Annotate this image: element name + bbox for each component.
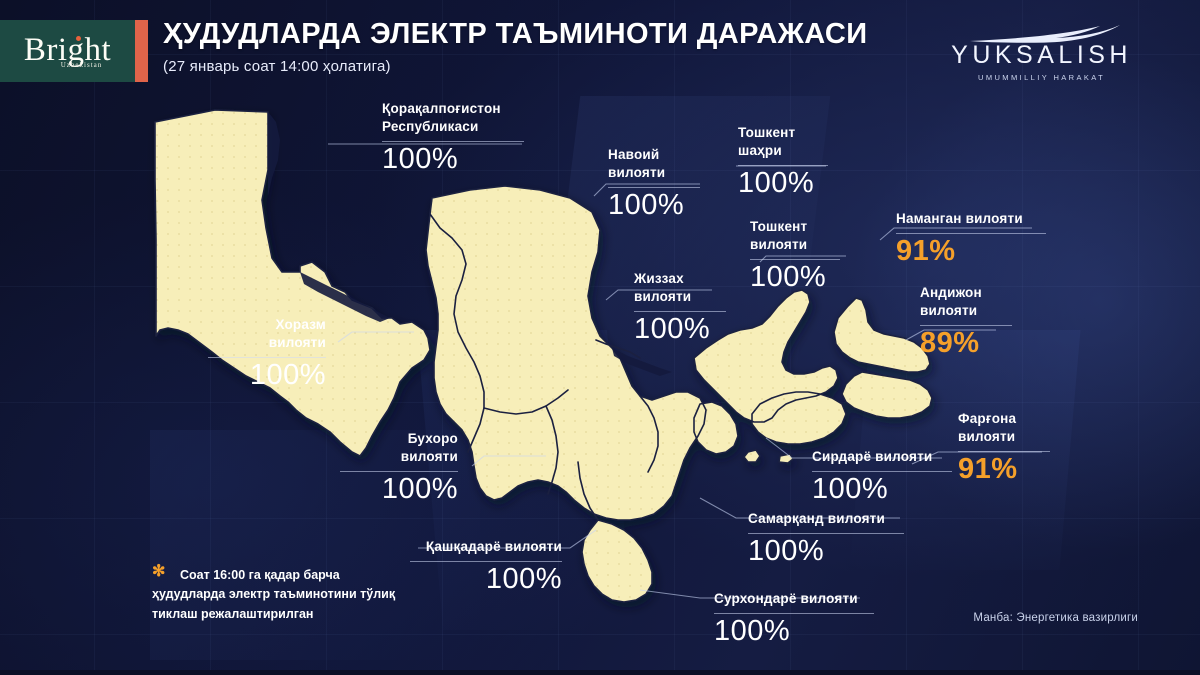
callout-fargona[interactable]: Фарғона вилояти 91%: [958, 410, 1050, 486]
logo-accent-bar: [135, 20, 148, 82]
callout-rule: [410, 561, 562, 562]
region-value: 100%: [208, 360, 326, 392]
region-label: Самарқанд вилояти: [748, 510, 904, 528]
callout-andijon[interactable]: Андижон вилояти 89%: [920, 284, 1012, 360]
region-value: 100%: [340, 474, 458, 506]
region-value: 100%: [748, 536, 904, 568]
region-value: 100%: [634, 314, 726, 346]
yuksalish-logo[interactable]: YUKSALISH UMUMMILLIY HARAKAT: [951, 24, 1132, 82]
region-value: 89%: [920, 328, 1012, 360]
region-label: Бухоро вилояти: [340, 430, 458, 466]
callout-tashkent-region[interactable]: Тошкент вилояти 100%: [750, 218, 840, 294]
footnote: ✻ Соат 16:00 га қадар барча ҳудудларда э…: [152, 566, 452, 624]
callout-rule: [896, 233, 1046, 234]
region-label: Тошкент вилояти: [750, 218, 840, 254]
source-label: Манба: Энергетика вазирлиги: [973, 612, 1138, 624]
callout-rule: [958, 451, 1050, 452]
region-value: 100%: [812, 474, 952, 506]
footnote-line-1: Соат 16:00 га қадар барча: [152, 566, 452, 585]
callout-rule: [608, 187, 700, 188]
callout-tashkent-city[interactable]: Тошкент шаҳри 100%: [738, 124, 828, 200]
page-title: ҲУДУДЛАРДА ЭЛЕКТР ТАЪМИНОТИ ДАРАЖАСИ: [163, 18, 868, 51]
callout-karakalpakstan[interactable]: Қорақалпоғистон Республикаси 100%: [382, 100, 524, 176]
callout-sirdaryo[interactable]: Сирдарё вилояти 100%: [812, 448, 952, 506]
footnote-line-2: ҳудудларда электр таъминотини тўлиқ: [152, 585, 452, 604]
yuksalish-name: YUKSALISH: [951, 41, 1132, 70]
region-label: Сирдарё вилояти: [812, 448, 952, 466]
header: Bright Uzbekistan ҲУДУДЛАРДА ЭЛЕКТР ТАЪМ…: [0, 0, 1200, 92]
region-label: Андижон вилояти: [920, 284, 1012, 320]
yuksalish-tagline: UMUMMILLIY HARAKAT: [951, 73, 1132, 82]
title-block: ҲУДУДЛАРДА ЭЛЕКТР ТАЪМИНОТИ ДАРАЖАСИ (27…: [163, 18, 868, 75]
callout-xorazm[interactable]: Хоразм вилояти 100%: [208, 316, 326, 392]
callout-namangan[interactable]: Наманган вилояти 91%: [896, 210, 1046, 268]
callout-samarqand[interactable]: Самарқанд вилояти 100%: [748, 510, 904, 568]
callout-rule: [714, 613, 874, 614]
callout-rule: [208, 357, 326, 358]
callout-navoiy[interactable]: Навоий вилояти 100%: [608, 146, 700, 222]
bright-uzbekistan-logo[interactable]: Bright Uzbekistan: [0, 20, 135, 82]
region-value: 100%: [608, 190, 700, 222]
callout-rule: [634, 311, 726, 312]
region-label: Тошкент шаҳри: [738, 124, 828, 160]
region-value: 91%: [958, 454, 1050, 486]
region-label: Хоразм вилояти: [208, 316, 326, 352]
callout-jizzax[interactable]: Жиззах вилояти 100%: [634, 270, 726, 346]
callout-rule: [748, 533, 904, 534]
region-label: Жиззах вилояти: [634, 270, 726, 306]
callout-surxondaryo[interactable]: Сурхондарё вилояти 100%: [714, 590, 874, 648]
swoosh-icon: [952, 24, 1132, 43]
footnote-line-3: тиклаш режалаштирилган: [152, 605, 452, 624]
region-value: 100%: [750, 262, 840, 294]
region-label: Навоий вилояти: [608, 146, 700, 182]
region-value: 91%: [896, 236, 1046, 268]
logo-accent-dot: [76, 36, 81, 41]
callout-buxoro[interactable]: Бухоро вилояти 100%: [340, 430, 458, 506]
callout-rule: [812, 471, 952, 472]
callout-rule: [738, 165, 828, 166]
region-value: 100%: [738, 168, 828, 200]
region-label: Фарғона вилояти: [958, 410, 1050, 446]
callout-rule: [920, 325, 1012, 326]
region-value: 100%: [382, 144, 524, 176]
callout-rule: [750, 259, 840, 260]
asterisk-icon: ✻: [152, 564, 165, 580]
callout-rule: [382, 141, 524, 142]
region-label: Қорақалпоғистон Республикаси: [382, 100, 524, 136]
callout-rule: [340, 471, 458, 472]
region-label: Наманган вилояти: [896, 210, 1046, 228]
region-label: Қашқадарё вилояти: [410, 538, 562, 556]
region-label: Сурхондарё вилояти: [714, 590, 874, 608]
page-subtitle: (27 январь соат 14:00 ҳолатига): [163, 58, 868, 75]
region-value: 100%: [714, 616, 874, 648]
